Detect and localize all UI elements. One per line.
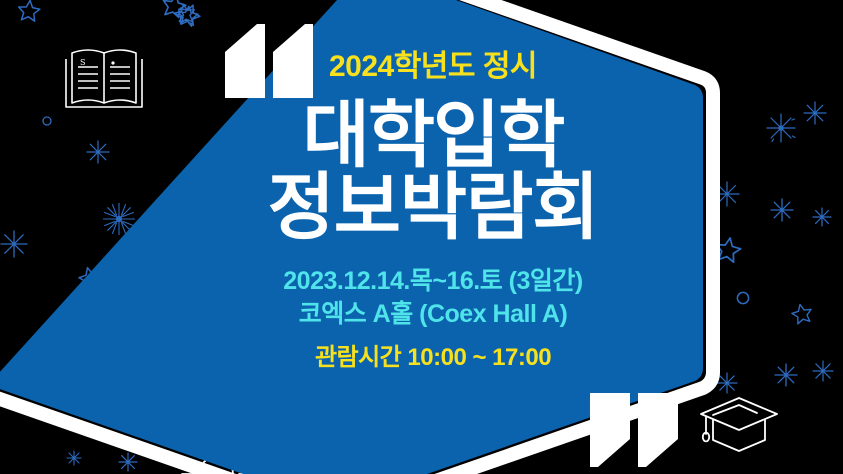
- open-quote-mark: [219, 24, 319, 98]
- close-quote-mark: [584, 393, 684, 467]
- banner-shape: [0, 0, 843, 474]
- poster-root: S: [0, 0, 843, 474]
